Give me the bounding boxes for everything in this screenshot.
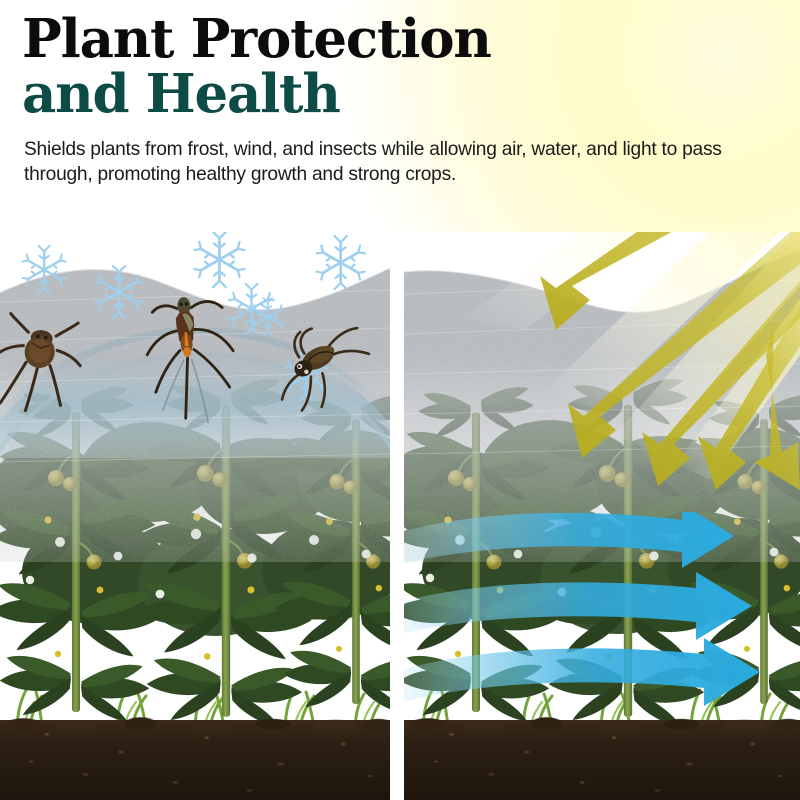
- snowflake-icon: [23, 246, 66, 294]
- sun-ray-arrow-icon: [540, 232, 800, 330]
- snowflake-icon: [317, 236, 365, 289]
- snowflake-icon: [251, 298, 285, 335]
- soil-left: [0, 720, 390, 800]
- insect-icon: [143, 294, 238, 427]
- insect-icon: [266, 315, 380, 416]
- header: Plant Protection and Health Shields plan…: [0, 0, 800, 188]
- tomato-plant-row: [404, 344, 800, 744]
- page-subtitle: Shields plants from frost, wind, and ins…: [24, 138, 780, 188]
- infographic-canvas: Plant Protection and Health Shields plan…: [0, 0, 800, 800]
- snowflake-icon: [96, 266, 143, 318]
- insect-icon: [0, 312, 86, 417]
- panel-divider-bottom: [390, 700, 404, 800]
- soil-right: [404, 720, 800, 800]
- page-title-line-2: and Health: [22, 69, 780, 120]
- page-title-line-1: Plant Protection: [22, 14, 780, 65]
- snowflake-icon: [195, 232, 245, 287]
- cold-threat-scene: [0, 232, 390, 442]
